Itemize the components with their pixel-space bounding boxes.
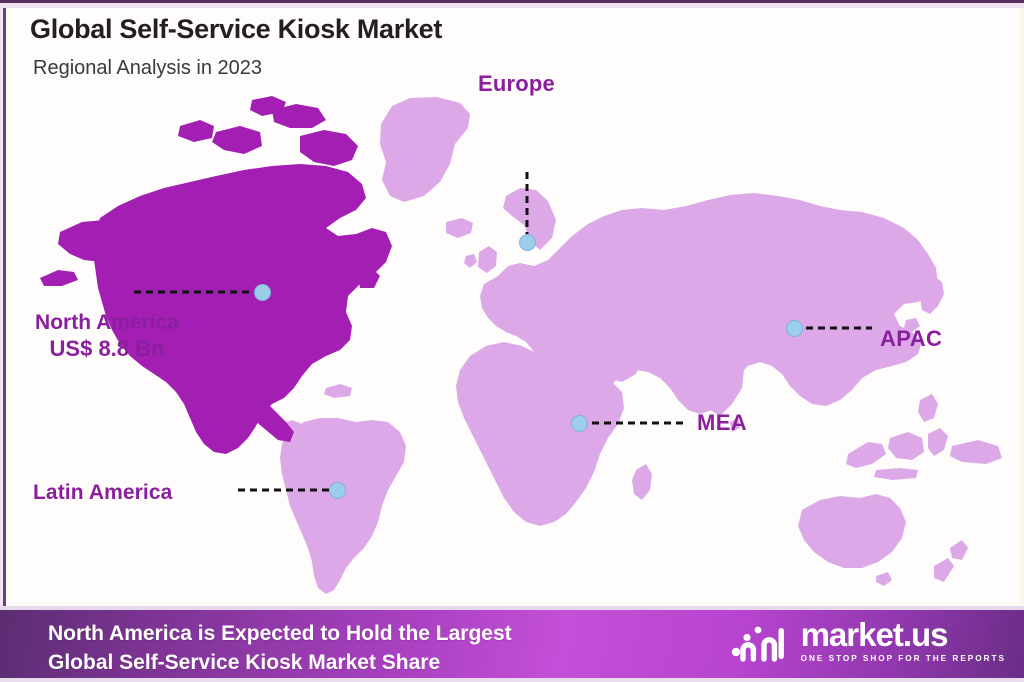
region-victoria-island — [212, 126, 262, 154]
region-label-north-america-name: North America — [35, 311, 179, 334]
bottom-banner: North America is Expected to Hold the La… — [0, 606, 1024, 682]
region-ireland — [464, 254, 477, 268]
region-tasmania — [876, 572, 892, 586]
region-indonesia-sulawesi — [928, 428, 948, 456]
region-label-mea: MEA — [697, 411, 747, 436]
market-us-logo[interactable]: market.us ONE STOP SHOP FOR THE REPORTS — [730, 618, 1006, 663]
marker-latin-america[interactable] — [329, 482, 346, 499]
region-british-isles — [478, 246, 497, 273]
region-baffin-island — [300, 130, 358, 166]
logo-wordmark: market.us — [801, 618, 1006, 651]
region-new-guinea — [950, 440, 1002, 464]
region-arctic-islands-1 — [178, 120, 214, 142]
region-new-zealand-north — [950, 540, 968, 560]
banner-text-line1: North America is Expected to Hold the La… — [48, 620, 512, 649]
marker-north-america[interactable] — [254, 284, 271, 301]
region-indonesia-java — [874, 468, 918, 480]
marker-mea[interactable] — [571, 415, 588, 432]
region-madagascar — [632, 464, 652, 500]
region-caribbean — [324, 384, 352, 398]
region-indonesia-borneo — [888, 432, 924, 460]
marker-europe[interactable] — [519, 234, 536, 251]
region-philippines — [918, 394, 938, 422]
region-label-north-america: North America US$ 8.8 Bn — [12, 311, 202, 361]
region-australia — [798, 494, 906, 568]
frame-top-inner-border — [0, 3, 1024, 8]
logo-text-group: market.us ONE STOP SHOP FOR THE REPORTS — [801, 618, 1006, 663]
region-greenland — [380, 97, 470, 202]
region-new-zealand-south — [934, 558, 954, 582]
region-label-europe: Europe — [478, 72, 555, 97]
logo-tagline: ONE STOP SHOP FOR THE REPORTS — [801, 654, 1006, 663]
infographic-root: Global Self-Service Kiosk Market Regiona… — [0, 0, 1024, 682]
page-title: Global Self-Service Kiosk Market — [30, 14, 442, 45]
region-label-apac: APAC — [880, 327, 942, 352]
region-iceland — [446, 218, 473, 238]
region-south-america — [280, 418, 406, 594]
map-regions-highlighted — [40, 96, 392, 454]
banner-text: North America is Expected to Hold the La… — [48, 620, 512, 677]
region-label-latin-america: Latin America — [33, 481, 172, 505]
marker-apac[interactable] — [786, 320, 803, 337]
region-label-north-america-value: US$ 8.8 Bn — [12, 337, 202, 362]
region-indonesia-sumatra — [846, 442, 886, 468]
region-aleutians — [40, 270, 78, 286]
banner-text-line2: Global Self-Service Kiosk Market Share — [48, 649, 512, 678]
market-us-logo-icon — [730, 619, 792, 663]
